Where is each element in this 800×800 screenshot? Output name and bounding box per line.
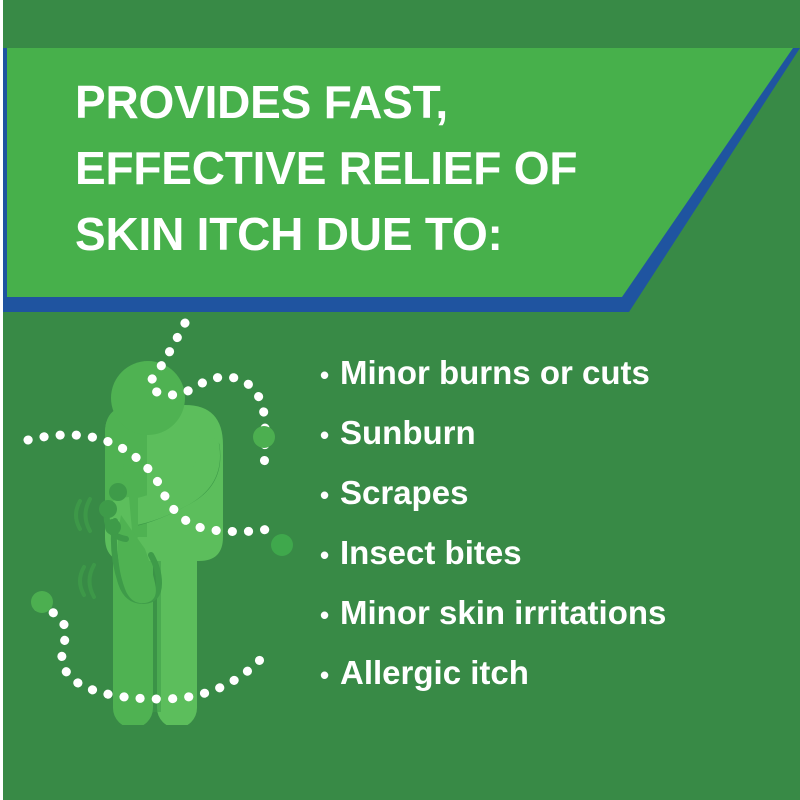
list-item-label: Minor skin irritations [340,596,666,629]
bullet-marker-icon: • [320,482,340,508]
person-scratching-arm-icon [20,315,320,725]
list-item: • Minor skin irritations [320,596,780,656]
list-item-label: Sunburn [340,416,476,449]
bullet-marker-icon: • [320,362,340,388]
list-item: • Insect bites [320,536,780,596]
title-line-1: PROVIDES FAST, [75,70,715,136]
list-item-label: Minor burns or cuts [340,356,650,389]
list-item: • Allergic itch [320,656,780,716]
list-item-label: Scrapes [340,476,468,509]
title-line-3: SKIN ITCH DUE TO: [75,202,715,268]
title-line-2: EFFECTIVE RELIEF OF [75,136,715,202]
page-title: PROVIDES FAST, EFFECTIVE RELIEF OF SKIN … [75,70,715,267]
header-banner: PROVIDES FAST, EFFECTIVE RELIEF OF SKIN … [3,48,800,312]
list-item: • Scrapes [320,476,780,536]
figure-body-group [76,361,223,725]
benefits-list: • Minor burns or cuts • Sunburn • Scrape… [320,356,780,716]
poster-root: PROVIDES FAST, EFFECTIVE RELIEF OF SKIN … [0,0,800,800]
list-item-label: Insect bites [340,536,522,569]
list-item-label: Allergic itch [340,656,529,689]
bullet-marker-icon: • [320,542,340,568]
bullet-marker-icon: • [320,602,340,628]
bullet-marker-icon: • [320,662,340,688]
list-item: • Sunburn [320,416,780,476]
list-item: • Minor burns or cuts [320,356,780,416]
bullet-marker-icon: • [320,422,340,448]
